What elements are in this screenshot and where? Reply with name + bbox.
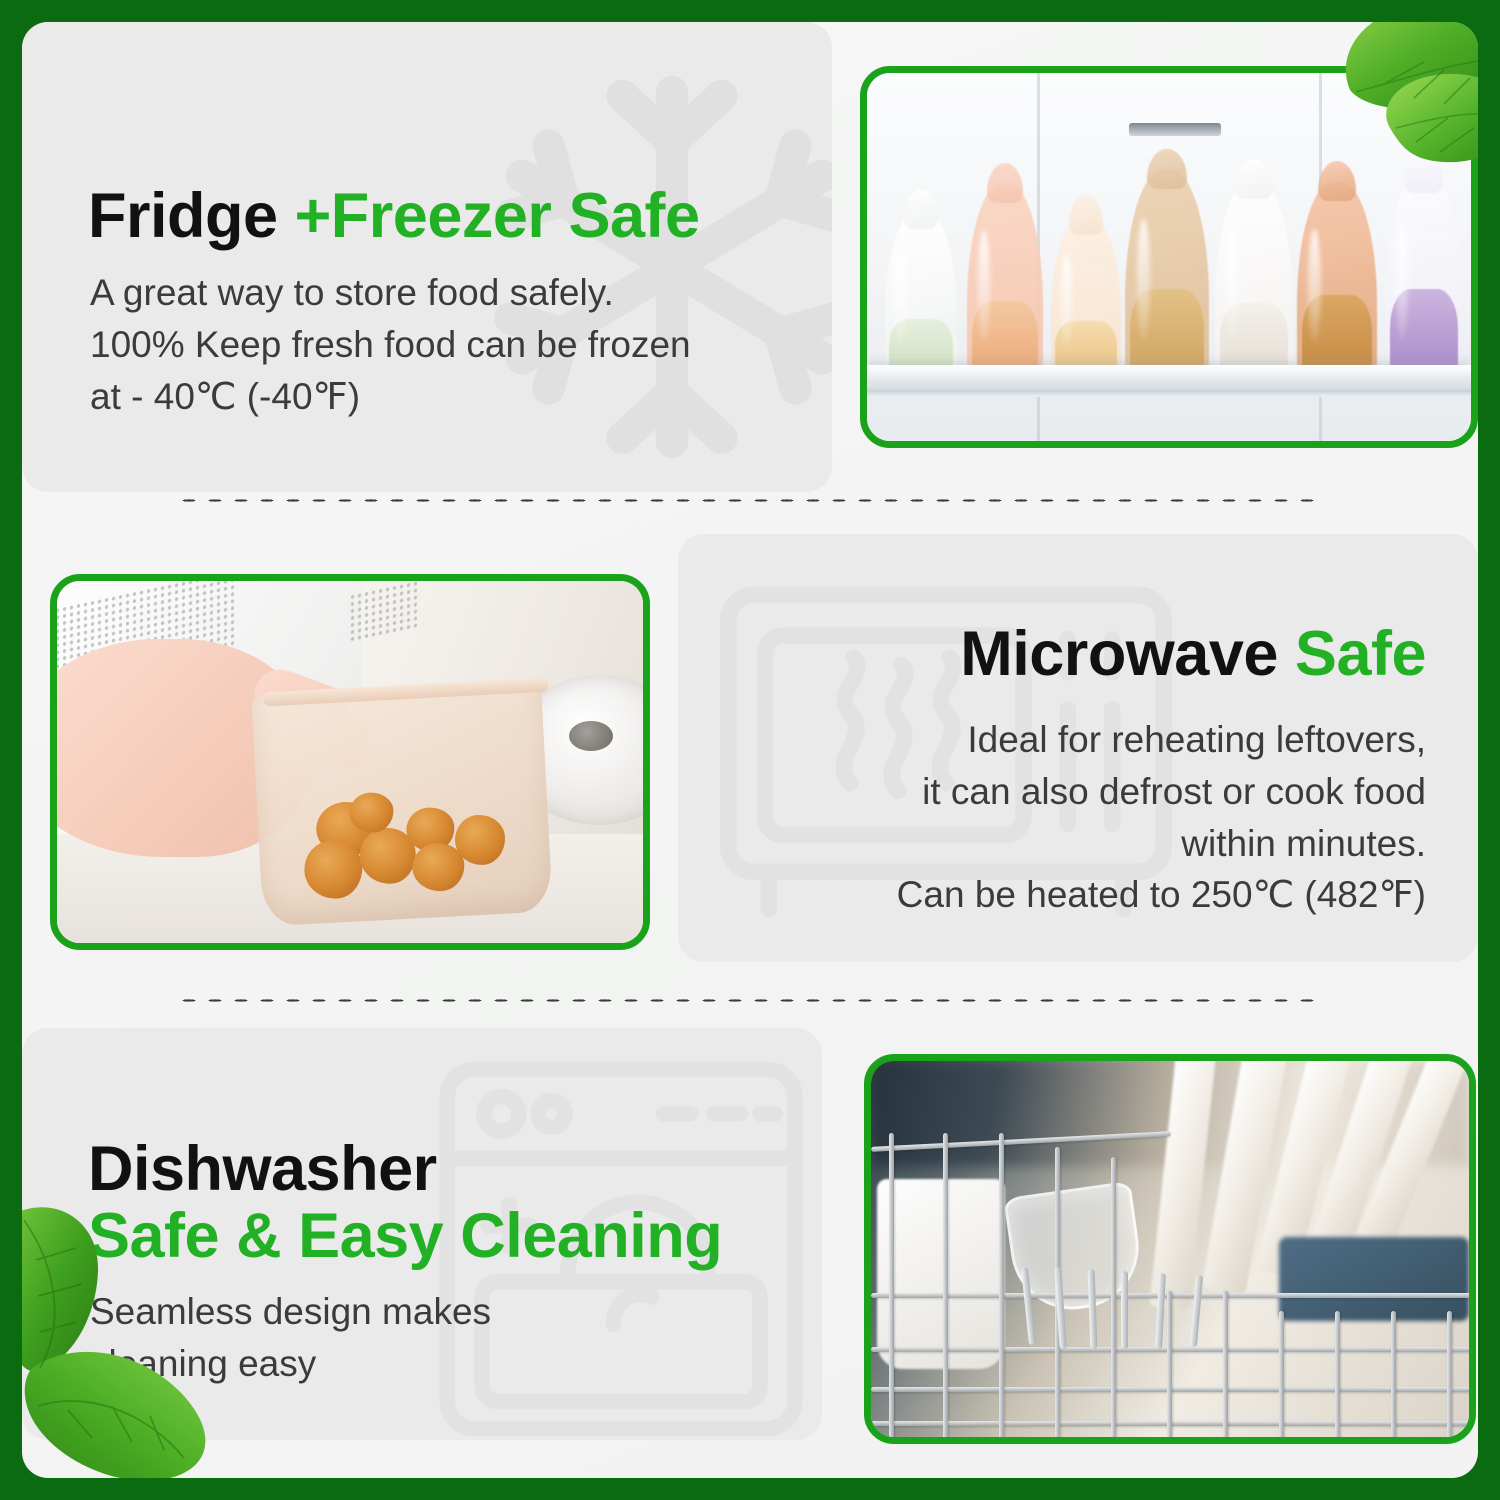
rack-wire [943, 1133, 948, 1437]
fridge-photo-scene [867, 73, 1471, 441]
panel-dishwasher-body-line: cleaning easy [90, 1338, 730, 1390]
bag-highlight [978, 230, 990, 344]
panel-microwave-body-line: Ideal for reheating leftovers, [706, 714, 1426, 766]
bag-highlight [1137, 219, 1150, 341]
rack-wire [1111, 1157, 1116, 1437]
bag-highlight [1308, 229, 1321, 344]
panel-fridge-freezer: Fridge +Freezer Safe A great way to stor… [22, 22, 832, 492]
panel-microwave-heading-plain: Microwave [960, 619, 1295, 689]
bag-highlight [1061, 254, 1072, 349]
panel-fridge-body-line: A great way to store food safely. [90, 267, 790, 319]
panel-fridge-heading-accent: +Freezer Safe [295, 181, 700, 251]
fridge-photo [860, 66, 1478, 448]
microwave-photo-scene [57, 581, 643, 943]
fridge-vent [1129, 123, 1221, 136]
microwave-turntable-hub [569, 721, 613, 751]
fridge-shelf [867, 365, 1471, 391]
dotted-divider [176, 498, 1326, 503]
panel-dishwasher-heading-line-2: Safe & Easy Cleaning [88, 1203, 722, 1270]
fridge-shelf-edge [867, 390, 1471, 397]
panel-microwave: Microwave Safe Ideal for reheating lefto… [678, 534, 1478, 962]
panel-fridge-body-line: at - 40℃ (-40℉) [90, 371, 790, 423]
cup [877, 1179, 1005, 1369]
panel-fridge-body: A great way to store food safely. 100% K… [90, 267, 790, 422]
rack-wire [999, 1133, 1004, 1437]
panel-dishwasher: Dishwasher Safe & Easy Cleaning Seamless… [22, 1028, 822, 1440]
infographic-canvas: Fridge +Freezer Safe A great way to stor… [22, 22, 1478, 1478]
panel-fridge-heading-plain: Fridge [88, 181, 295, 251]
bag-highlight [895, 250, 907, 349]
panel-microwave-body-line: it can also defrost or cook food [706, 766, 1426, 818]
panel-microwave-heading-accent: Safe [1295, 619, 1426, 689]
panel-dishwasher-heading-line-1: Dishwasher [88, 1136, 722, 1203]
microwave-photo [50, 574, 650, 950]
rack-wire [889, 1133, 894, 1437]
panel-fridge-body-line: 100% Keep fresh food can be frozen [90, 319, 790, 371]
dishwasher-photo-scene [871, 1061, 1469, 1437]
dotted-divider [176, 998, 1326, 1003]
panel-fridge-heading: Fridge +Freezer Safe [88, 182, 700, 250]
panel-microwave-body-line: Can be heated to 250℃ (482℉) [706, 869, 1426, 921]
panel-dishwasher-body: Seamless design makes cleaning easy [90, 1286, 730, 1390]
product-feature-infographic: Fridge +Freezer Safe A great way to stor… [0, 0, 1500, 1500]
panel-dishwasher-heading: Dishwasher Safe & Easy Cleaning [88, 1136, 722, 1270]
rack-wire [1223, 1291, 1228, 1437]
dishwasher-photo [864, 1054, 1476, 1444]
rack-wire [1335, 1311, 1340, 1437]
rack-wire [1447, 1311, 1452, 1437]
panel-dishwasher-body-line: Seamless design makes [90, 1286, 730, 1338]
silicone-bag-with-food [251, 680, 553, 927]
rack-wire [1391, 1311, 1396, 1437]
rack-wire [1167, 1291, 1172, 1437]
panel-microwave-body: Ideal for reheating leftovers, it can al… [706, 714, 1426, 921]
panel-microwave-heading: Microwave Safe [960, 620, 1426, 688]
panel-microwave-body-line: within minutes. [706, 818, 1426, 870]
rack-tine [1121, 1271, 1128, 1349]
blue-container [1279, 1237, 1469, 1321]
rack-wire [1279, 1311, 1284, 1437]
